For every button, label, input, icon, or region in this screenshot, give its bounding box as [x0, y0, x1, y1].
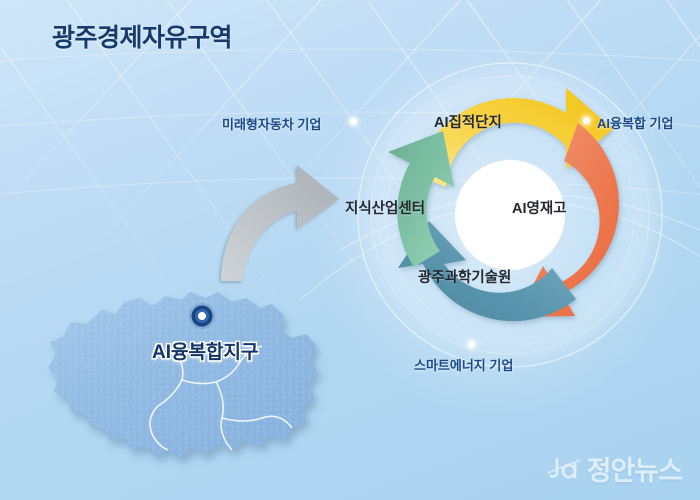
location-pin-icon: [189, 303, 215, 329]
cycle-label-left: 지식산업센터: [345, 197, 425, 218]
gwangju-map: [40, 288, 340, 478]
outer-marker-ai-convergence: [583, 117, 590, 124]
outer-label-future-vehicle: 미래형자동차 기업: [222, 114, 321, 133]
cycle-label-bottom: 광주과학기술원: [418, 266, 511, 287]
connector-arrow: [205, 155, 350, 285]
watermark: 정안뉴스: [547, 449, 682, 488]
page-title: 광주경제자유구역: [52, 18, 232, 54]
watermark-text: 정안뉴스: [587, 449, 682, 488]
ja-logo-icon: [547, 454, 581, 484]
cycle-label-top: AI집적단지: [434, 111, 502, 132]
outer-label-ai-convergence: AI융복합 기업: [597, 113, 673, 132]
cycle-diagram: AI집적단지 AI영재고 광주과학기술원 지식산업센터: [330, 55, 690, 385]
outer-label-smart-energy: 스마트에너지 기업: [414, 355, 513, 374]
infographic-canvas: 광주경제자유구역: [0, 0, 700, 500]
outer-marker-future-vehicle: [350, 118, 357, 125]
outer-marker-smart-energy: [468, 341, 475, 348]
cycle-label-right: AI영재고: [512, 197, 567, 218]
map-region-label: AI융복합지구: [152, 337, 258, 364]
